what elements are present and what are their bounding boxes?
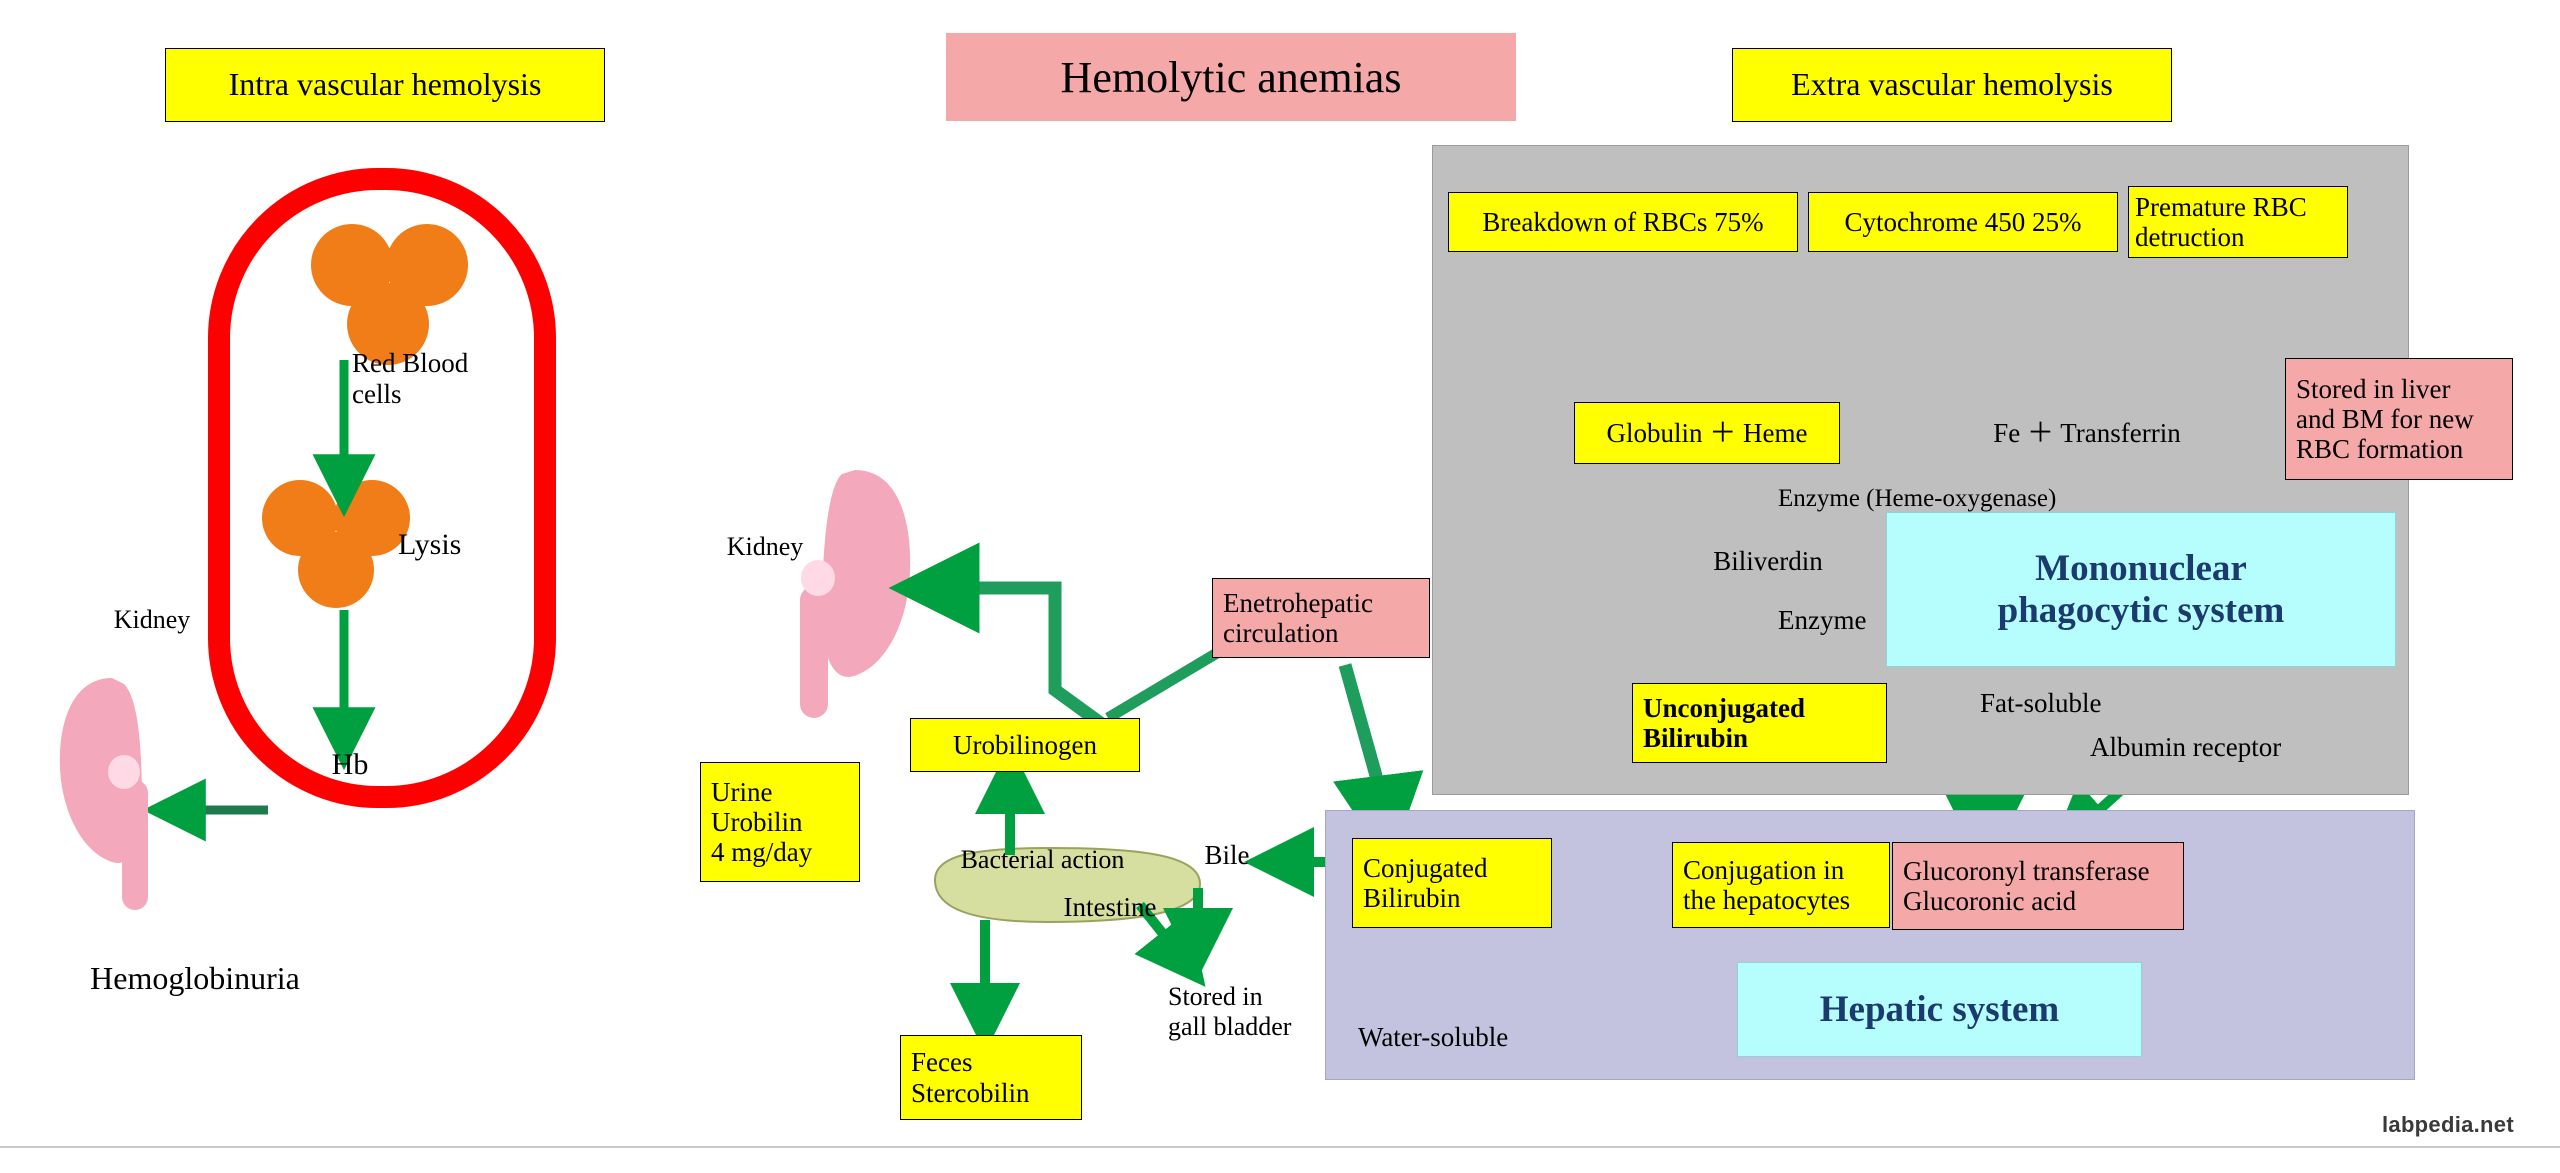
page-title: Hemolytic anemias (946, 33, 1516, 121)
label-biliverdin: Biliverdin (1668, 546, 1868, 577)
label-red-blood-cells: Red Blood cells (352, 348, 582, 410)
box-unconjugated-bilirubin: Unconjugated Bilirubin (1632, 683, 1887, 763)
box-globulin-heme: Globulin ＋ Heme (1574, 402, 1840, 464)
box-breakdown-rbcs: Breakdown of RBCs 75% (1448, 192, 1798, 252)
box-hepatic-system: Hepatic system (1737, 962, 2142, 1057)
label-fat-soluble: Fat-soluble (1980, 688, 2210, 719)
box-urine-urobilin: Urine Urobilin 4 mg/day (700, 762, 860, 882)
label-fe-transferrin: Fe ＋ Transferrin (1942, 418, 2232, 449)
label-bacterial-action: Bacterial action (925, 845, 1160, 875)
kidney-left-graphic (60, 678, 148, 910)
box-glucoronyl-transferase: Glucoronyl transferase Glucoronic acid (1892, 842, 2184, 930)
label-hemoglobinuria: Hemoglobinuria (30, 960, 360, 996)
label-kidney-middle: Kidney (690, 532, 840, 562)
kidney-middle-graphic (800, 470, 910, 718)
box-feces-stercobilin: Feces Stercobilin (900, 1035, 1082, 1120)
label-albumin-receptor: Albumin receptor (2090, 732, 2400, 763)
header-intra-vascular: Intra vascular hemolysis (165, 48, 605, 122)
label-water-soluble: Water-soluble (1358, 1022, 1608, 1053)
box-conjugated-bilirubin: Conjugated Bilirubin (1352, 838, 1552, 928)
box-mononuclear-phagocytic-system: Mononuclear phagocytic system (1886, 512, 2396, 667)
diagram-canvas: Intra vascular hemolysis Hemolytic anemi… (0, 0, 2560, 1173)
box-premature-rbc-destruction: Premature RBC detruction (2128, 186, 2348, 258)
label-enzyme-heme-oxygenase: Enzyme (Heme-oxygenase) (1778, 485, 2198, 514)
label-stored-gall-bladder: Stored in gall bladder (1168, 982, 1358, 1041)
label-hb: Hb (305, 748, 395, 782)
box-enterohepatic-circulation: Enetrohepatic circulation (1212, 578, 1430, 658)
box-conjugation-hepatocytes: Conjugation in the hepatocytes (1672, 842, 1890, 928)
label-kidney-left: Kidney (82, 605, 222, 635)
bottom-divider (0, 1146, 2560, 1148)
watermark-labpedia: labpedia.net (2382, 1112, 2514, 1138)
label-intestine: Intestine (1010, 892, 1210, 923)
label-bile: Bile (1172, 840, 1282, 871)
box-stored-in-liver: Stored in liver and BM for new RBC forma… (2285, 358, 2513, 480)
label-lysis: Lysis (398, 528, 578, 562)
blood-vessel-capsule (208, 168, 556, 808)
header-extra-vascular: Extra vascular hemolysis (1732, 48, 2172, 122)
box-urobilinogen: Urobilinogen (910, 718, 1140, 772)
box-cytochrome: Cytochrome 450 25% (1808, 192, 2118, 252)
